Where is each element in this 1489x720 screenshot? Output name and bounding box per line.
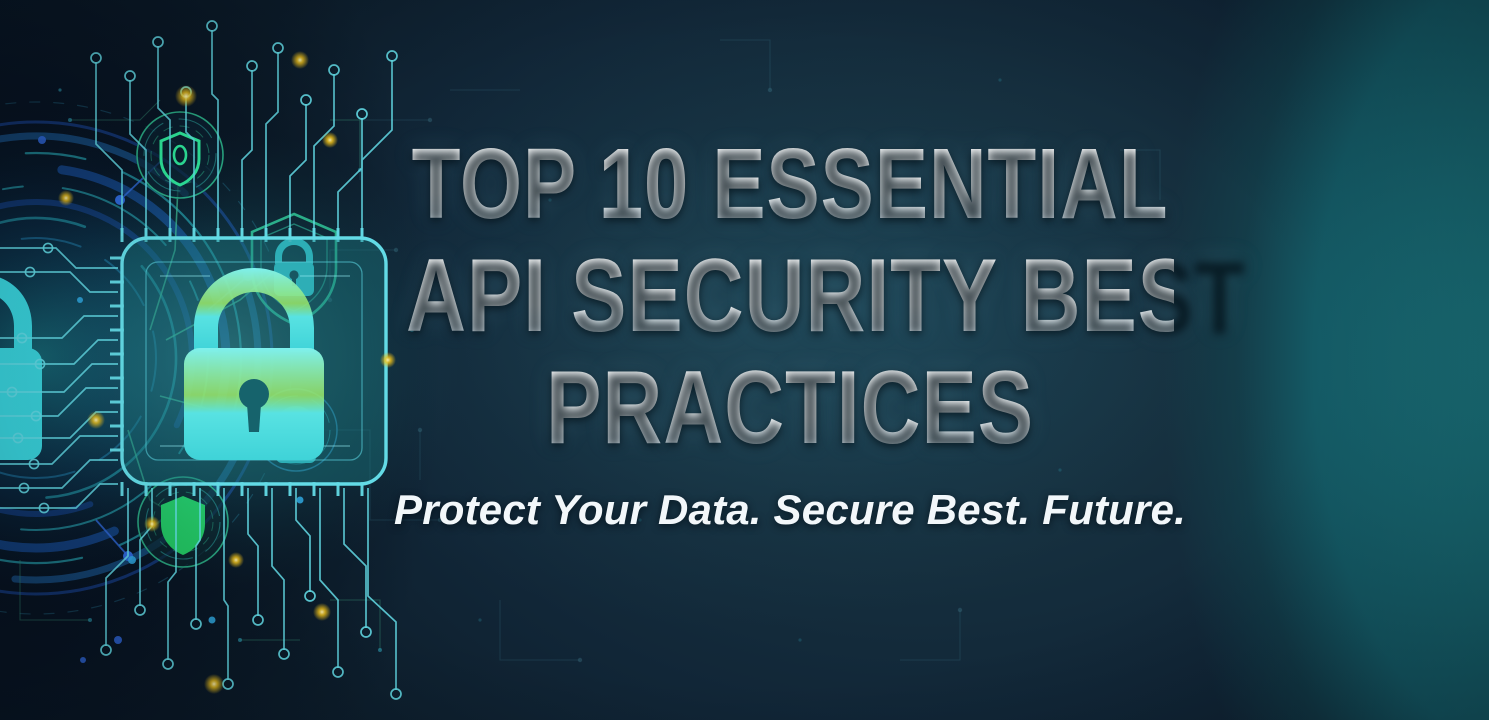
- banner-root: TOP 10 ESSENTIAL API SECURITY BEST PRACT…: [0, 0, 1489, 720]
- background-vignette: [0, 0, 1489, 720]
